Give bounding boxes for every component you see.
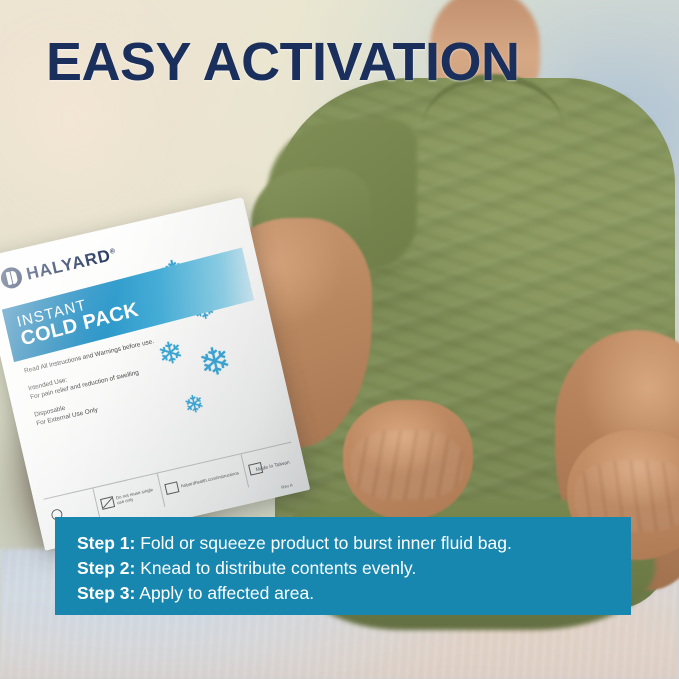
step-item: Step 2: Knead to distribute contents eve… xyxy=(77,556,631,581)
step-label: Step 3: xyxy=(77,583,135,603)
left-hand-knuckles xyxy=(351,430,463,500)
instruction-steps-panel: Step 1: Fold or squeeze product to burst… xyxy=(55,517,631,615)
step-item: Step 1: Fold or squeeze product to burst… xyxy=(77,531,631,556)
step-text: Fold or squeeze product to burst inner f… xyxy=(140,533,512,553)
step-text: Knead to distribute contents evenly. xyxy=(140,558,416,578)
step-label: Step 1: xyxy=(77,533,135,553)
product-marketing-image: ❄ ❄ ❄ ❄ ❄ ❄ HALYARD® INSTANT COLD PACK R… xyxy=(0,0,679,679)
step-text: Apply to affected area. xyxy=(139,583,314,603)
step-label: Step 2: xyxy=(77,558,135,578)
page-title: EASY ACTIVATION xyxy=(46,34,520,91)
step-item: Step 3: Apply to affected area. xyxy=(77,581,631,606)
